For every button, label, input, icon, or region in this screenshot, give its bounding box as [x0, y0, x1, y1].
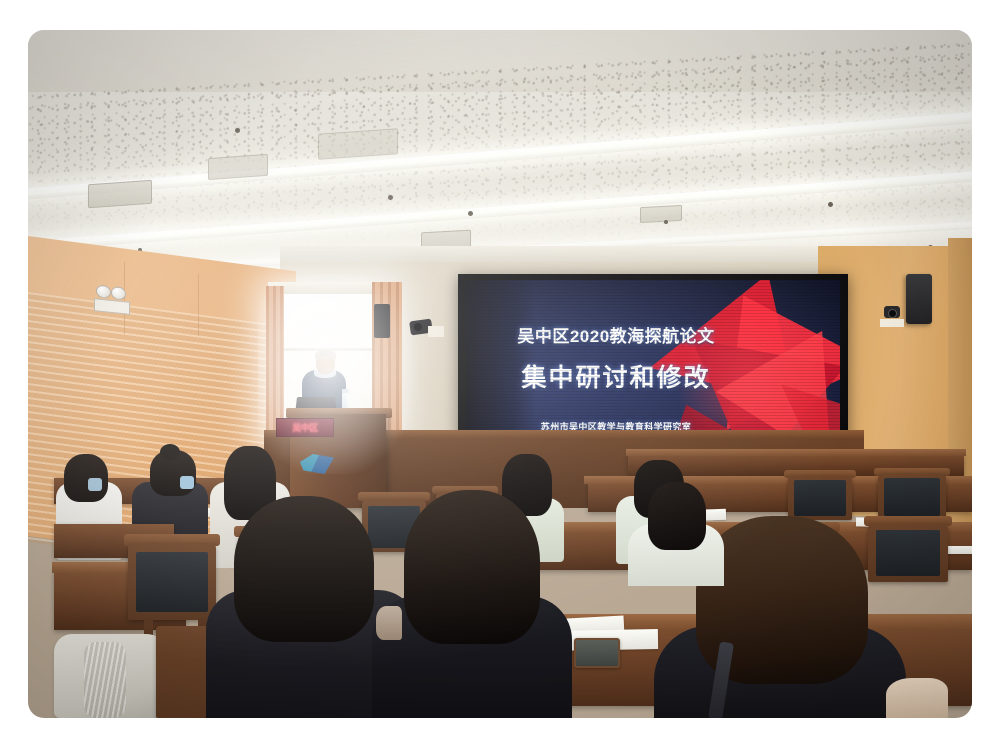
emergency-lamp-left [96, 284, 111, 299]
camera-mount-plate-right [880, 319, 904, 327]
podium-sign: 吴中区 [276, 418, 334, 437]
attendee-hair [64, 454, 108, 502]
chair-backrest-pad [794, 480, 846, 516]
ceiling-sprinkler-5 [828, 202, 833, 207]
camera-lens-right-icon [888, 309, 897, 318]
ceiling-vent-2 [208, 154, 268, 180]
chair-backrest-pad [884, 478, 940, 516]
desk-row-4-top [626, 449, 966, 456]
attendee-hair-foreground [404, 490, 540, 644]
water-bottle-cap [342, 389, 349, 393]
wall-panel-seam-2 [198, 274, 199, 336]
attendee-hair-foreground [234, 496, 374, 642]
slide-subtitle: 集中研讨和修改 [466, 358, 766, 394]
podium-sign-text: 吴中区 [277, 421, 333, 434]
ceiling-sprinkler-4 [664, 220, 668, 224]
ceiling-sprinkler-2 [388, 195, 393, 200]
ceiling-sprinkler-1 [235, 128, 240, 133]
shoulder-highlight [376, 606, 402, 640]
presenter-hair [315, 350, 336, 359]
ceiling-vent-1 [88, 180, 152, 208]
face-mask [88, 478, 102, 491]
slide-title: 吴中区2020教海探航论文 [466, 322, 766, 347]
shoulder-skin [886, 678, 948, 718]
ceiling-sprinkler-3 [468, 211, 473, 216]
wall-speaker-left [374, 304, 390, 338]
camera-lens-left-icon [414, 323, 422, 331]
attendee-hair [648, 482, 706, 550]
hair-bun [160, 444, 180, 460]
jacket-fold [84, 642, 126, 718]
smartphone-on-desk[interactable] [574, 638, 620, 668]
chair-backrest-pad [136, 552, 208, 612]
wall-speaker-right [906, 274, 932, 324]
ceiling-vent-5 [640, 205, 682, 223]
photo-frame: 吴中区2020教海探航论文 集中研讨和修改 苏州市吴中区教学与教育科学研究室 2… [0, 0, 1000, 750]
conference-room-photo: 吴中区2020教海探航论文 集中研讨和修改 苏州市吴中区教学与教育科学研究室 2… [28, 30, 972, 718]
face-mask [180, 476, 194, 489]
emergency-lamp-right [111, 286, 126, 301]
chair-backrest-pad [876, 530, 940, 576]
camera-mount-plate-left [428, 326, 444, 337]
